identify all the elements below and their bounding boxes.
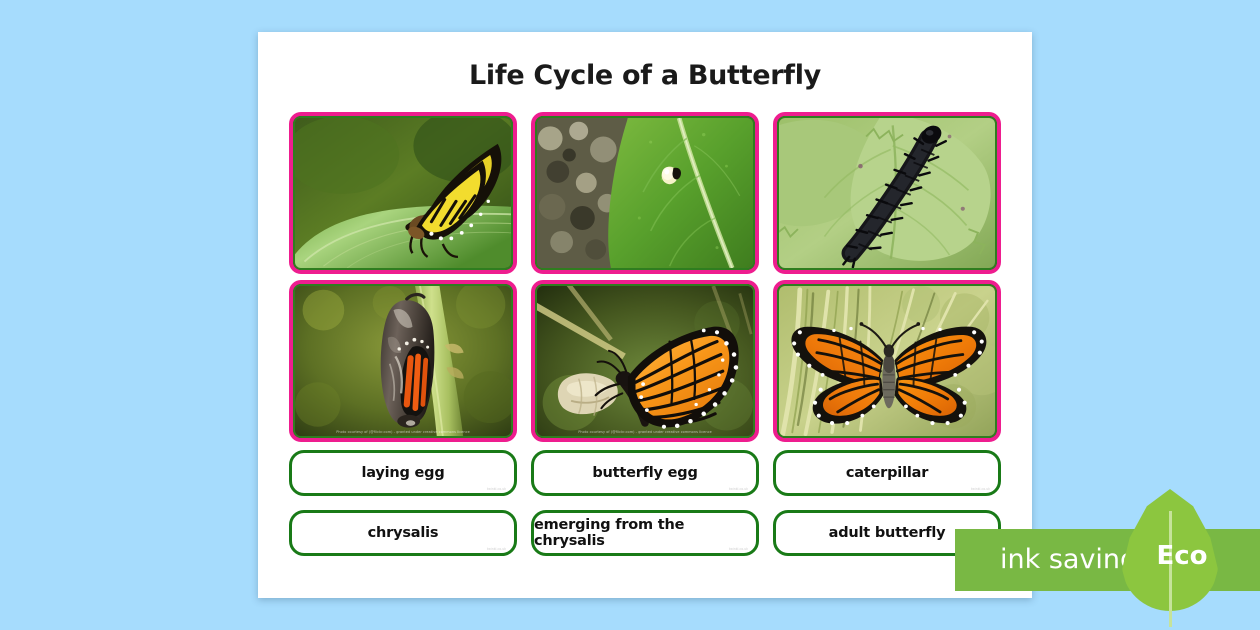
ink-saving-eco-badge: ink saving Eco	[955, 529, 1260, 591]
eco-label: Eco	[1134, 541, 1230, 571]
photo-inner-border	[777, 116, 997, 270]
label-text: adult butterfly	[829, 525, 946, 541]
photo-attribution: Photo courtesy of (@flickr.com) - grante…	[295, 430, 511, 435]
label-attribution: twinkl.co.uk	[487, 487, 506, 491]
label-text: caterpillar	[846, 465, 928, 481]
label-card-emerging[interactable]: emerging from the chrysalis twinkl.co.uk	[531, 510, 759, 556]
photo-card-adult-butterfly[interactable]	[773, 280, 1001, 442]
photo-card-laying-egg[interactable]	[289, 112, 517, 274]
ink-saving-label: ink saving	[1000, 544, 1137, 575]
photo-card-chrysalis[interactable]: Photo courtesy of (@flickr.com) - grante…	[289, 280, 517, 442]
label-text: butterfly egg	[592, 465, 697, 481]
eco-leaf-icon: Eco	[1122, 489, 1218, 629]
label-attribution: twinkl.co.uk	[729, 487, 748, 491]
photo-inner-border	[777, 284, 997, 438]
label-card-chrysalis[interactable]: chrysalis twinkl.co.uk	[289, 510, 517, 556]
photo-card-emerging[interactable]: Photo courtesy of (@flickr.com) - grante…	[531, 280, 759, 442]
label-attribution: twinkl.co.uk	[971, 487, 990, 491]
page-title: Life Cycle of a Butterfly	[258, 60, 1032, 91]
photo-adult-butterfly	[779, 286, 995, 436]
worksheet-sheet: Life Cycle of a Butterfly	[258, 32, 1032, 598]
photo-chrysalis	[295, 286, 511, 436]
photo-emerging	[537, 286, 753, 436]
photo-card-grid: Photo courtesy of (@flickr.com) - grante…	[289, 112, 1001, 442]
label-card-grid: laying egg twinkl.co.uk butterfly egg tw…	[289, 450, 1001, 556]
label-text: laying egg	[361, 465, 444, 481]
photo-inner-border	[293, 116, 513, 270]
photo-card-butterfly-egg[interactable]	[531, 112, 759, 274]
label-text: emerging from the chrysalis	[534, 517, 756, 549]
photo-laying-egg	[295, 118, 511, 268]
photo-butterfly-egg	[537, 118, 753, 268]
label-card-butterfly-egg[interactable]: butterfly egg twinkl.co.uk	[531, 450, 759, 496]
label-attribution: twinkl.co.uk	[729, 547, 748, 551]
photo-inner-border: Photo courtesy of (@flickr.com) - grante…	[535, 284, 755, 438]
photo-card-caterpillar[interactable]	[773, 112, 1001, 274]
photo-caterpillar	[779, 118, 995, 268]
photo-attribution: Photo courtesy of (@flickr.com) - grante…	[537, 430, 753, 435]
label-attribution: twinkl.co.uk	[487, 547, 506, 551]
label-card-caterpillar[interactable]: caterpillar twinkl.co.uk	[773, 450, 1001, 496]
photo-inner-border	[535, 116, 755, 270]
label-card-laying-egg[interactable]: laying egg twinkl.co.uk	[289, 450, 517, 496]
label-text: chrysalis	[368, 525, 439, 541]
photo-inner-border: Photo courtesy of (@flickr.com) - grante…	[293, 284, 513, 438]
